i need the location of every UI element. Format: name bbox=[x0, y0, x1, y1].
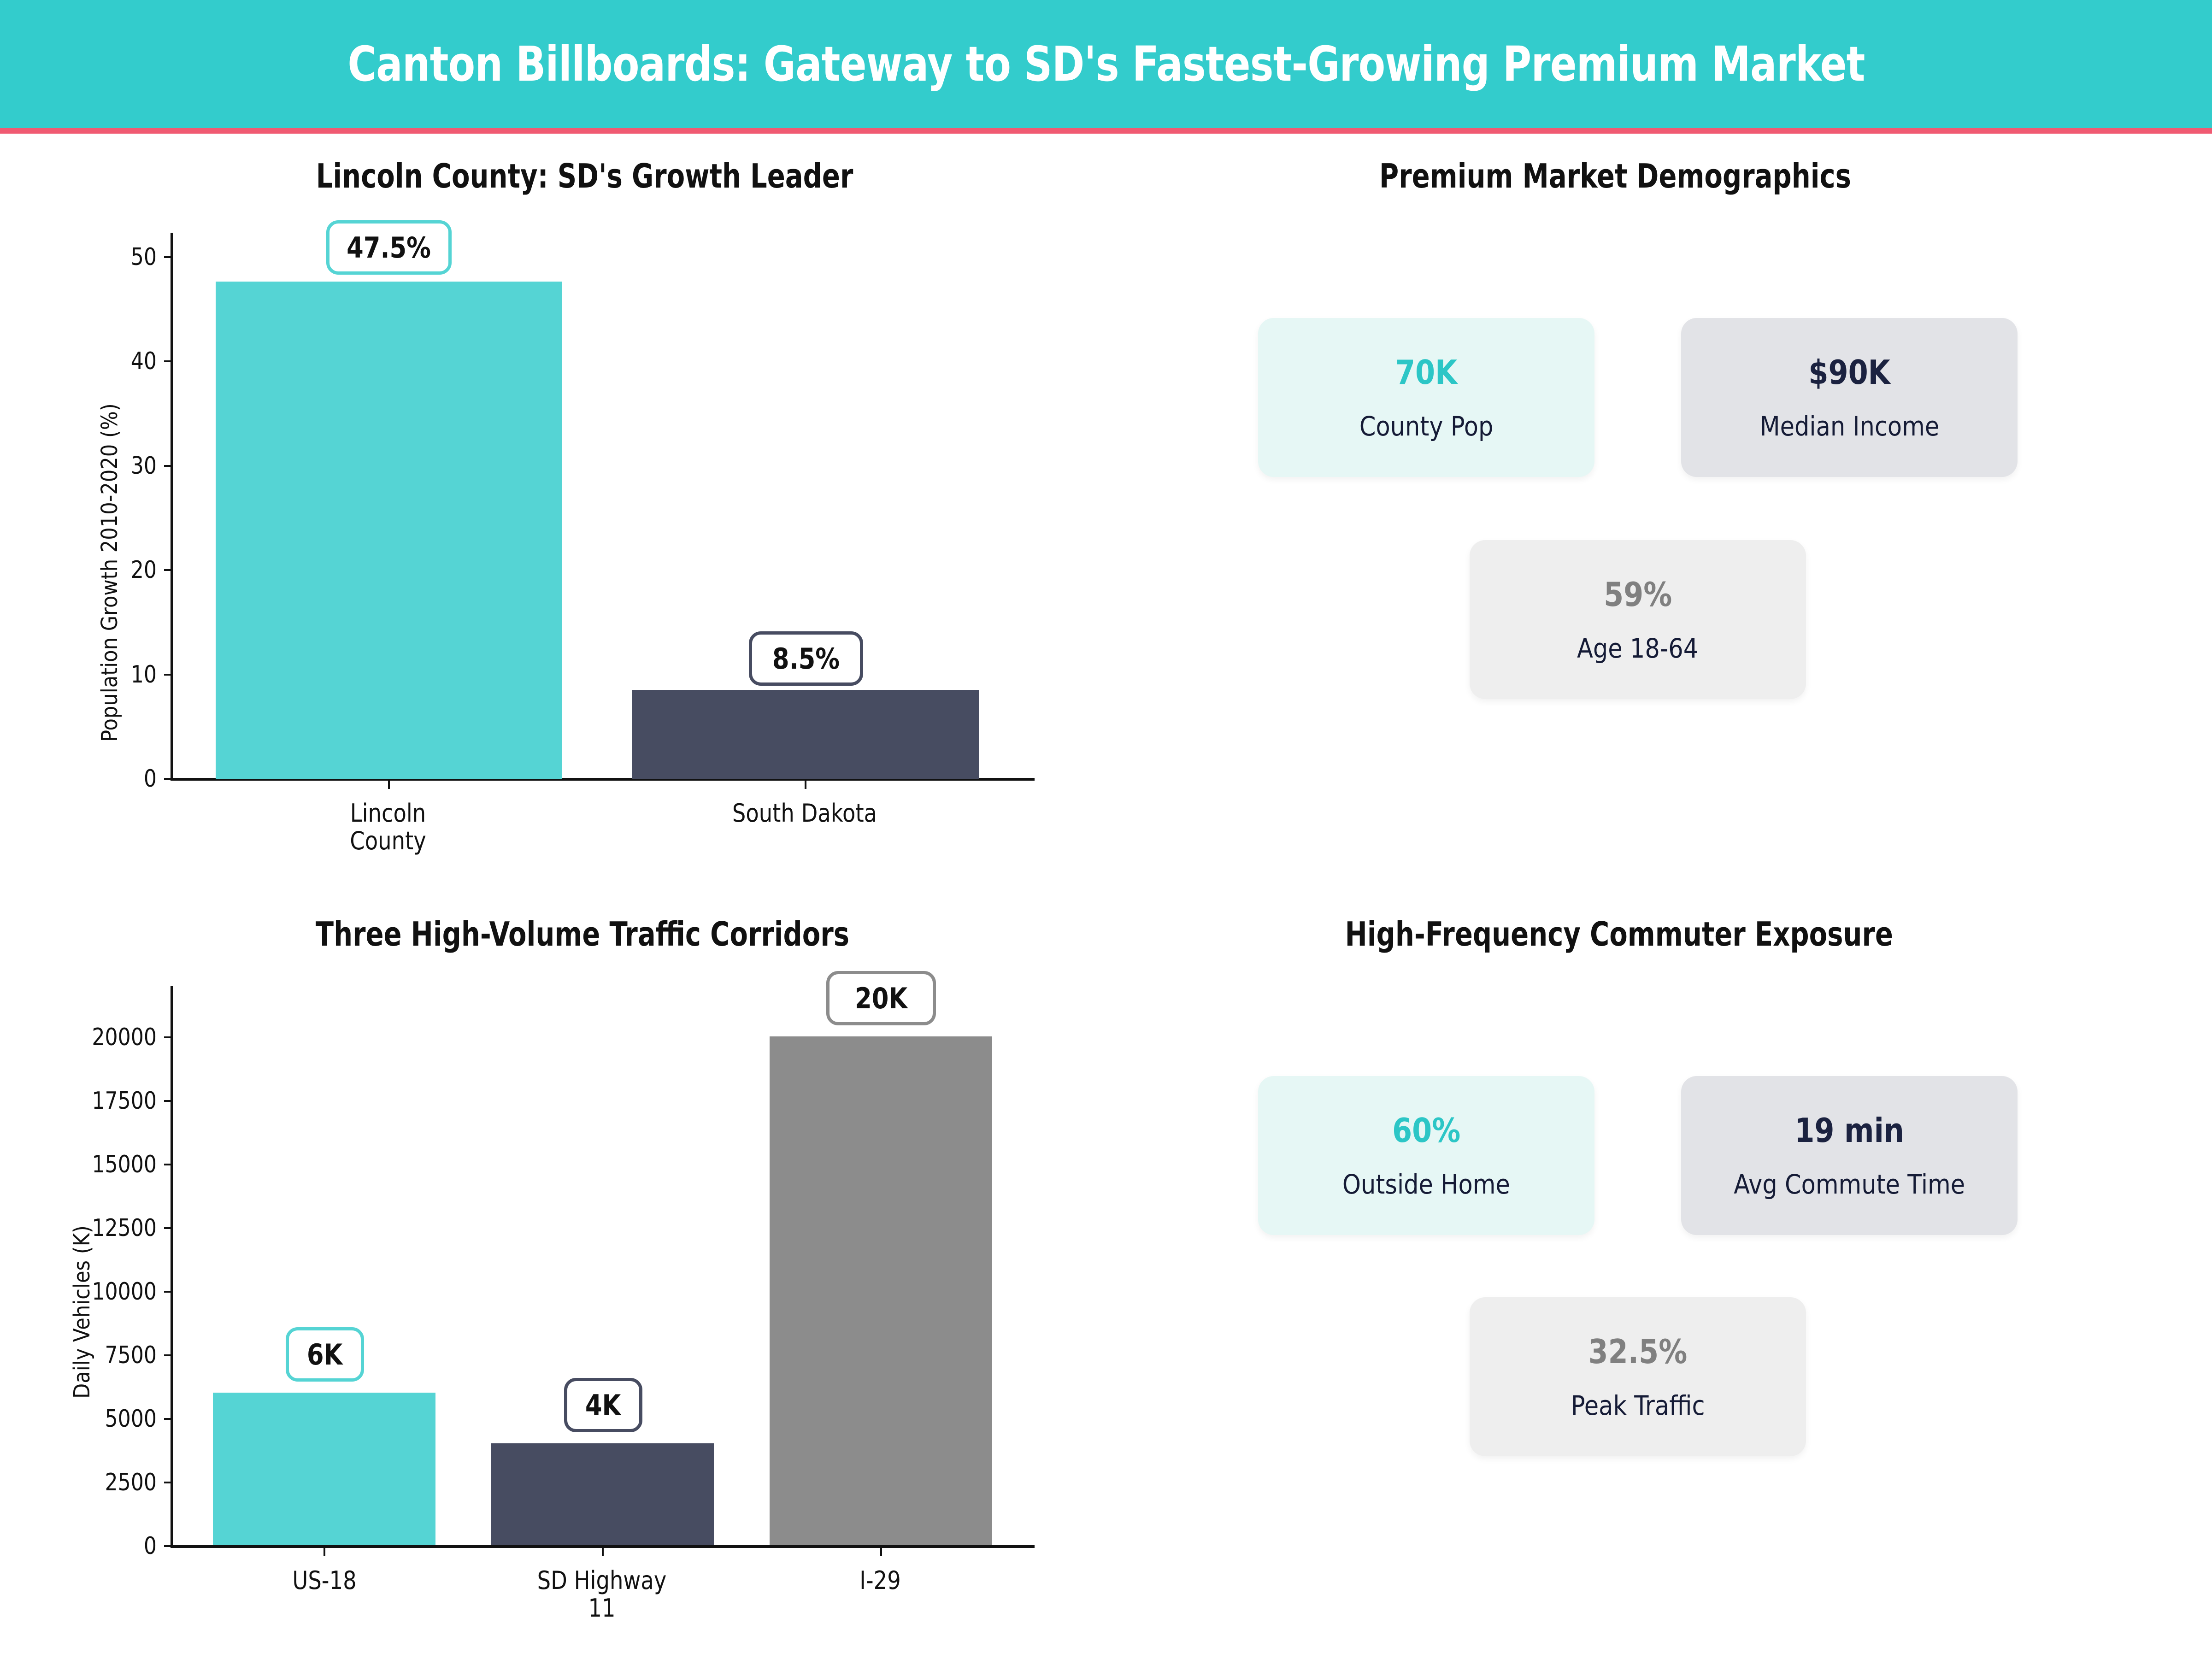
growth-ytick-label-50: 50 bbox=[82, 243, 157, 271]
traffic-ytick-10000 bbox=[164, 1291, 171, 1293]
traffic-xtick-label-us-18: US-18 bbox=[237, 1567, 412, 1594]
traffic-ytick-2500 bbox=[164, 1482, 171, 1483]
traffic-ytick-label-2500: 2500 bbox=[55, 1469, 157, 1496]
growth-xtick-label-south-dakota: South Dakota bbox=[706, 800, 904, 827]
traffic-y-axis-spine bbox=[171, 986, 173, 1547]
demographics-card-age-18-64[interactable]: 59% Age 18-64 bbox=[1470, 540, 1806, 699]
commuter-card-outside-home-label: Outside Home bbox=[1342, 1171, 1510, 1198]
header-accent-line bbox=[0, 128, 2212, 134]
traffic-chart-title: Three High-Volume Traffic Corridors bbox=[316, 915, 849, 953]
traffic-ytick-label-17500: 17500 bbox=[55, 1087, 157, 1115]
traffic-xtick-label-sd-highway-11: SD Highway11 bbox=[491, 1567, 713, 1623]
growth-ytick-40 bbox=[164, 360, 171, 362]
growth-bar-label-south-dakota: 8.5% bbox=[749, 631, 863, 686]
demographics-card-age-18-64-label: Age 18-64 bbox=[1577, 635, 1698, 662]
traffic-ytick-20000 bbox=[164, 1036, 171, 1038]
demographics-card-age-18-64-value: 59% bbox=[1604, 578, 1672, 611]
growth-bar-label-south-dakota-text: 8.5% bbox=[772, 642, 840, 676]
commuter-card-outside-home-value: 60% bbox=[1392, 1114, 1460, 1147]
growth-ytick-10 bbox=[164, 674, 171, 676]
traffic-xtick-label-i-29: I-29 bbox=[793, 1567, 967, 1594]
header-banner: Canton Billboards: Gateway to SD's Faste… bbox=[0, 0, 2212, 128]
growth-ytick-label-20: 20 bbox=[82, 556, 157, 584]
traffic-ytick-label-7500: 7500 bbox=[55, 1341, 157, 1369]
growth-bar-label-lincoln-county-text: 47.5% bbox=[347, 231, 431, 265]
traffic-ytick-17500 bbox=[164, 1100, 171, 1102]
growth-ytick-label-0: 0 bbox=[82, 765, 157, 793]
traffic-ytick-label-15000: 15000 bbox=[55, 1151, 157, 1178]
growth-ytick-label-30: 30 bbox=[82, 452, 157, 480]
traffic-ytick-7500 bbox=[164, 1354, 171, 1356]
page-title: Canton Billboards: Gateway to SD's Faste… bbox=[347, 36, 1865, 92]
growth-xtick-0 bbox=[388, 781, 390, 789]
demographics-card-county-pop-label: County Pop bbox=[1359, 413, 1494, 440]
traffic-ytick-label-10000: 10000 bbox=[55, 1278, 157, 1306]
demographics-title: Premium Market Demographics bbox=[1379, 157, 1851, 195]
traffic-xtick-2 bbox=[880, 1548, 882, 1556]
commuter-card-avg-commute-time-label: Avg Commute Time bbox=[1734, 1171, 1965, 1198]
traffic-bar-label-us-18: 6K bbox=[286, 1327, 364, 1382]
traffic-bar-label-i-29-text: 20K bbox=[855, 982, 907, 1015]
traffic-bar-us-18 bbox=[213, 1393, 435, 1545]
growth-xtick-1 bbox=[805, 781, 806, 789]
traffic-bar-label-i-29: 20K bbox=[826, 971, 936, 1025]
growth-bar-lincoln-county bbox=[216, 282, 562, 779]
traffic-bar-label-sd-highway-11-text: 4K bbox=[585, 1388, 621, 1422]
traffic-ytick-label-12500: 12500 bbox=[55, 1214, 157, 1242]
growth-ytick-0 bbox=[164, 778, 171, 780]
traffic-xtick-1 bbox=[602, 1548, 604, 1556]
growth-y-axis-spine bbox=[171, 233, 173, 779]
traffic-bar-sd-highway-11 bbox=[491, 1443, 714, 1545]
demographics-card-median-income[interactable]: $90K Median Income bbox=[1681, 318, 2018, 477]
demographics-card-median-income-value: $90K bbox=[1808, 356, 1890, 389]
growth-ytick-30 bbox=[164, 465, 171, 467]
traffic-bar-label-us-18-text: 6K bbox=[307, 1338, 343, 1371]
traffic-ytick-15000 bbox=[164, 1164, 171, 1165]
demographics-card-county-pop[interactable]: 70K County Pop bbox=[1258, 318, 1594, 477]
traffic-ytick-5000 bbox=[164, 1418, 171, 1420]
traffic-ytick-0 bbox=[164, 1545, 171, 1547]
traffic-bar-i-29 bbox=[770, 1036, 992, 1545]
commuter-card-peak-traffic-value: 32.5% bbox=[1588, 1335, 1688, 1368]
commuter-card-peak-traffic-label: Peak Traffic bbox=[1571, 1392, 1705, 1419]
growth-bar-south-dakota bbox=[632, 690, 979, 779]
growth-bar-label-lincoln-county: 47.5% bbox=[326, 220, 452, 275]
growth-ytick-label-10: 10 bbox=[82, 661, 157, 688]
commuter-card-avg-commute-time[interactable]: 19 min Avg Commute Time bbox=[1681, 1076, 2018, 1235]
traffic-ytick-label-0: 0 bbox=[55, 1532, 157, 1560]
traffic-ytick-label-5000: 5000 bbox=[55, 1405, 157, 1433]
traffic-ytick-12500 bbox=[164, 1227, 171, 1229]
growth-xtick-label-lincoln-county: LincolnCounty bbox=[309, 800, 467, 855]
demographics-card-median-income-label: Median Income bbox=[1759, 413, 1939, 440]
commuter-card-peak-traffic[interactable]: 32.5% Peak Traffic bbox=[1470, 1297, 1806, 1456]
growth-ytick-50 bbox=[164, 256, 171, 258]
growth-ytick-20 bbox=[164, 569, 171, 571]
traffic-ytick-label-20000: 20000 bbox=[55, 1024, 157, 1051]
growth-chart-title: Lincoln County: SD's Growth Leader bbox=[316, 157, 853, 195]
demographics-card-county-pop-value: 70K bbox=[1395, 356, 1457, 389]
traffic-y-axis-label: Daily Vehicles (K) bbox=[69, 1225, 95, 1399]
commuter-card-outside-home[interactable]: 60% Outside Home bbox=[1258, 1076, 1594, 1235]
traffic-bar-label-sd-highway-11: 4K bbox=[564, 1378, 642, 1432]
growth-ytick-label-40: 40 bbox=[82, 347, 157, 375]
commuter-title: High-Frequency Commuter Exposure bbox=[1345, 915, 1893, 953]
commuter-card-avg-commute-time-value: 19 min bbox=[1794, 1114, 1904, 1147]
traffic-xtick-0 bbox=[324, 1548, 325, 1556]
